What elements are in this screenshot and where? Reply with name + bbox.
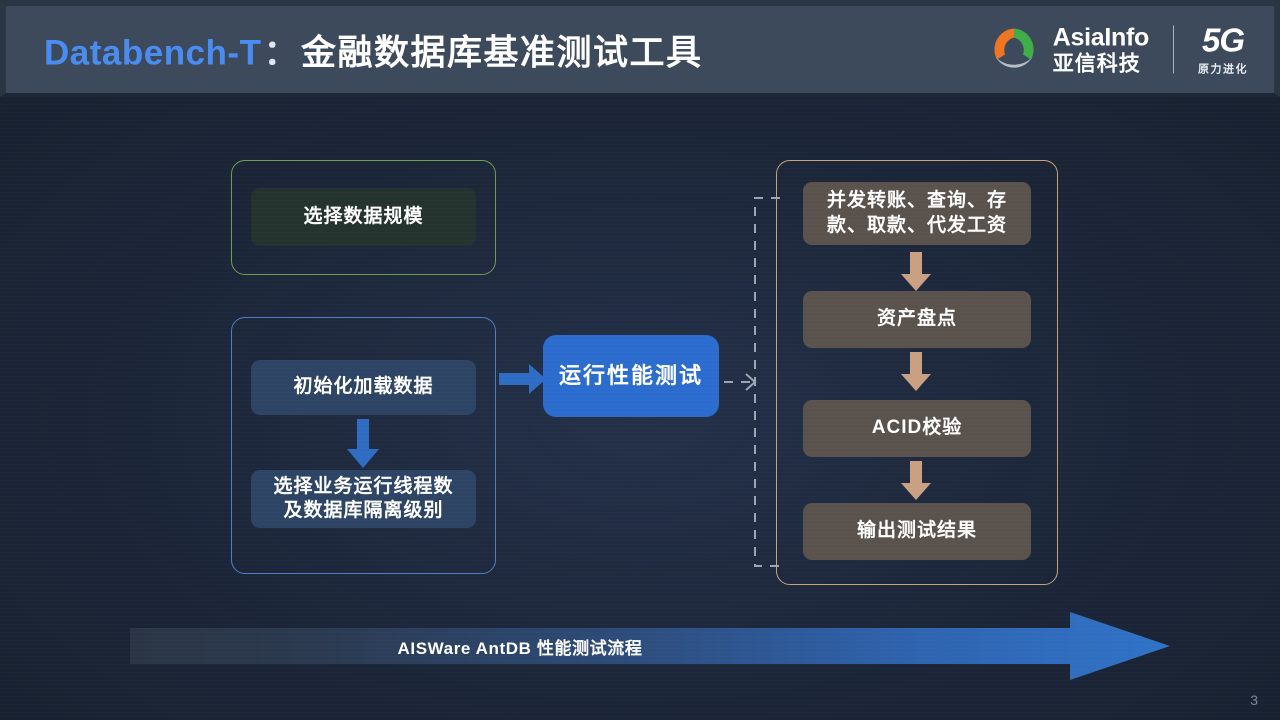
header-bar: Databench-T：金融数据库基准测试工具 AsiaInfo 亚信科技 5G… [0, 0, 1280, 97]
arrow-down-workload-3 [898, 461, 934, 501]
slide-canvas: Databench-T：金融数据库基准测试工具 AsiaInfo 亚信科技 5G… [0, 0, 1280, 720]
node-threads-line2: 及数据库隔离级别 [273, 499, 453, 523]
page-title-en: Databench-T [44, 33, 261, 72]
node-asset-inventory[interactable]: 资产盘点 [803, 291, 1031, 348]
node-select-data-scale[interactable]: 选择数据规模 [251, 188, 476, 246]
node-workload-line1: 并发转账、查询、存 [827, 189, 1007, 213]
logo-name-en: AsiaInfo [1053, 25, 1149, 50]
node-threads-line1: 选择业务运行线程数 [273, 475, 453, 499]
node-run-performance-test[interactable]: 运行性能测试 [543, 335, 719, 417]
node-init-load-data[interactable]: 初始化加载数据 [251, 360, 476, 415]
node-acid-validation[interactable]: ACID校验 [803, 400, 1031, 457]
arrow-down-workload-2 [898, 352, 934, 392]
node-workload-line2: 款、取款、代发工资 [827, 214, 1007, 238]
page-title-separator: ： [261, 33, 301, 72]
fiveg-sublabel: 原力进化 [1198, 60, 1248, 76]
process-banner-label: AISWare AntDB 性能测试流程 [130, 612, 1170, 680]
page-title: Databench-T：金融数据库基准测试工具 [44, 24, 703, 75]
fiveg-badge: 5G 原力进化 [1198, 23, 1248, 76]
node-select-threads-isolation[interactable]: 选择业务运行线程数 及数据库隔离级别 [251, 470, 476, 528]
logo-divider [1173, 26, 1174, 74]
node-output-test-results[interactable]: 输出测试结果 [803, 503, 1031, 560]
arrow-down-prepare [345, 419, 381, 469]
asiainfo-mark-icon [988, 24, 1040, 76]
page-number: 3 [1250, 692, 1258, 708]
fiveg-label: 5G [1202, 23, 1244, 56]
logo-name-cn: 亚信科技 [1053, 53, 1149, 74]
asiainfo-logo: AsiaInfo 亚信科技 5G 原力进化 [988, 23, 1248, 76]
node-concurrent-transactions[interactable]: 并发转账、查询、存 款、取款、代发工资 [803, 182, 1031, 245]
process-banner-arrow: AISWare AntDB 性能测试流程 [130, 612, 1170, 680]
asiainfo-wordmark: AsiaInfo 亚信科技 [1053, 25, 1149, 74]
arrow-right-to-run [499, 363, 547, 395]
arrow-down-workload-1 [898, 252, 934, 292]
page-title-cn: 金融数据库基准测试工具 [301, 33, 703, 72]
